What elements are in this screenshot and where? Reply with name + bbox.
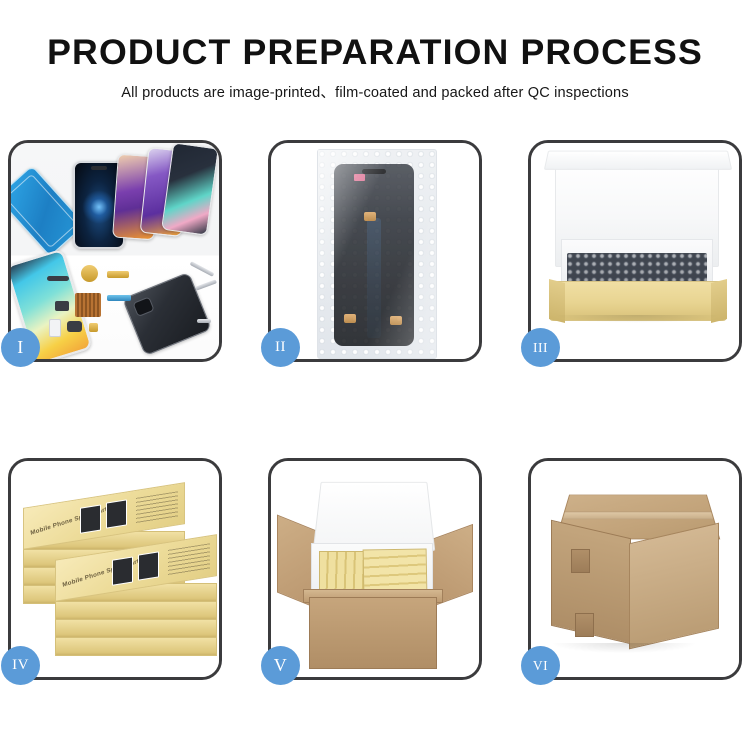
step-2-image (271, 143, 479, 359)
box-layer-r4 (55, 619, 217, 638)
part-flex-cable-a (107, 271, 129, 278)
part-speaker (47, 276, 69, 281)
part-flex-cable-b (107, 295, 131, 301)
product-preparation-process-page: PRODUCT PREPARATION PROCESS All products… (0, 0, 750, 750)
part-battery (49, 319, 61, 337)
box-layer-r5 (55, 637, 217, 656)
part-camera-module (55, 301, 69, 311)
box-stack: Mobile Phone Spare Parts Mobile Phone Sp… (15, 477, 219, 667)
step-panel-6[interactable]: VI (528, 458, 742, 680)
sealed-carton (545, 483, 725, 649)
step-panel-2[interactable]: II (268, 140, 482, 362)
carton-front-panel (309, 597, 437, 669)
cable-tab-top (364, 212, 376, 221)
step-3-image (531, 143, 739, 359)
step-badge-6: VI (521, 646, 560, 685)
bubble-wrap-bag (317, 149, 437, 359)
carton-handle-tab-top (571, 549, 590, 573)
step-badge-1: I (1, 328, 40, 367)
step-panel-4[interactable]: Mobile Phone Spare Parts Mobile Phone Sp… (8, 458, 222, 680)
step-4-image: Mobile Phone Spare Parts Mobile Phone Sp… (11, 461, 219, 677)
retail-box-window-b (106, 499, 127, 528)
carton-right-face (629, 523, 719, 650)
step-panel-3[interactable]: III (528, 140, 742, 362)
tray-shadow (553, 315, 721, 323)
lcd-flex-cable (367, 218, 381, 338)
part-screwdriver (190, 261, 215, 277)
part-tweezers (195, 279, 217, 290)
qc-sticker (354, 174, 365, 181)
step-badge-3: III (521, 328, 560, 367)
part-logic-board (75, 293, 101, 317)
box-layer-r3 (55, 601, 217, 620)
step-1-image (11, 143, 219, 359)
carton-shadow (553, 643, 695, 653)
part-screws (197, 319, 211, 323)
page-subtitle: All products are image-printed、film-coat… (0, 81, 750, 102)
step-5-image (271, 461, 479, 677)
part-vibrator-coil (81, 265, 98, 282)
cable-tab-left (344, 314, 356, 323)
cable-tab-right (390, 316, 402, 325)
lcd-screen (334, 164, 414, 346)
foam-lid-open (313, 482, 435, 551)
retail-box-window-a (80, 504, 101, 533)
part-connector (89, 323, 98, 332)
packing-tape (563, 512, 713, 520)
step-badge-4: IV (1, 646, 40, 685)
step-panel-1[interactable]: I (8, 140, 222, 362)
step-badge-2: II (261, 328, 300, 367)
retail-box-window-d (138, 551, 159, 580)
step-badge-5: V (261, 646, 300, 685)
page-title: PRODUCT PREPARATION PROCESS (0, 34, 750, 72)
header: PRODUCT PREPARATION PROCESS All products… (0, 34, 750, 102)
retail-box-window-c (112, 556, 133, 585)
part-taptic-engine (67, 321, 82, 332)
step-panel-5[interactable]: V (268, 458, 482, 680)
process-steps-grid: I II (8, 140, 742, 680)
carton-handle-tab-bottom (575, 613, 594, 637)
step-6-image (531, 461, 739, 677)
